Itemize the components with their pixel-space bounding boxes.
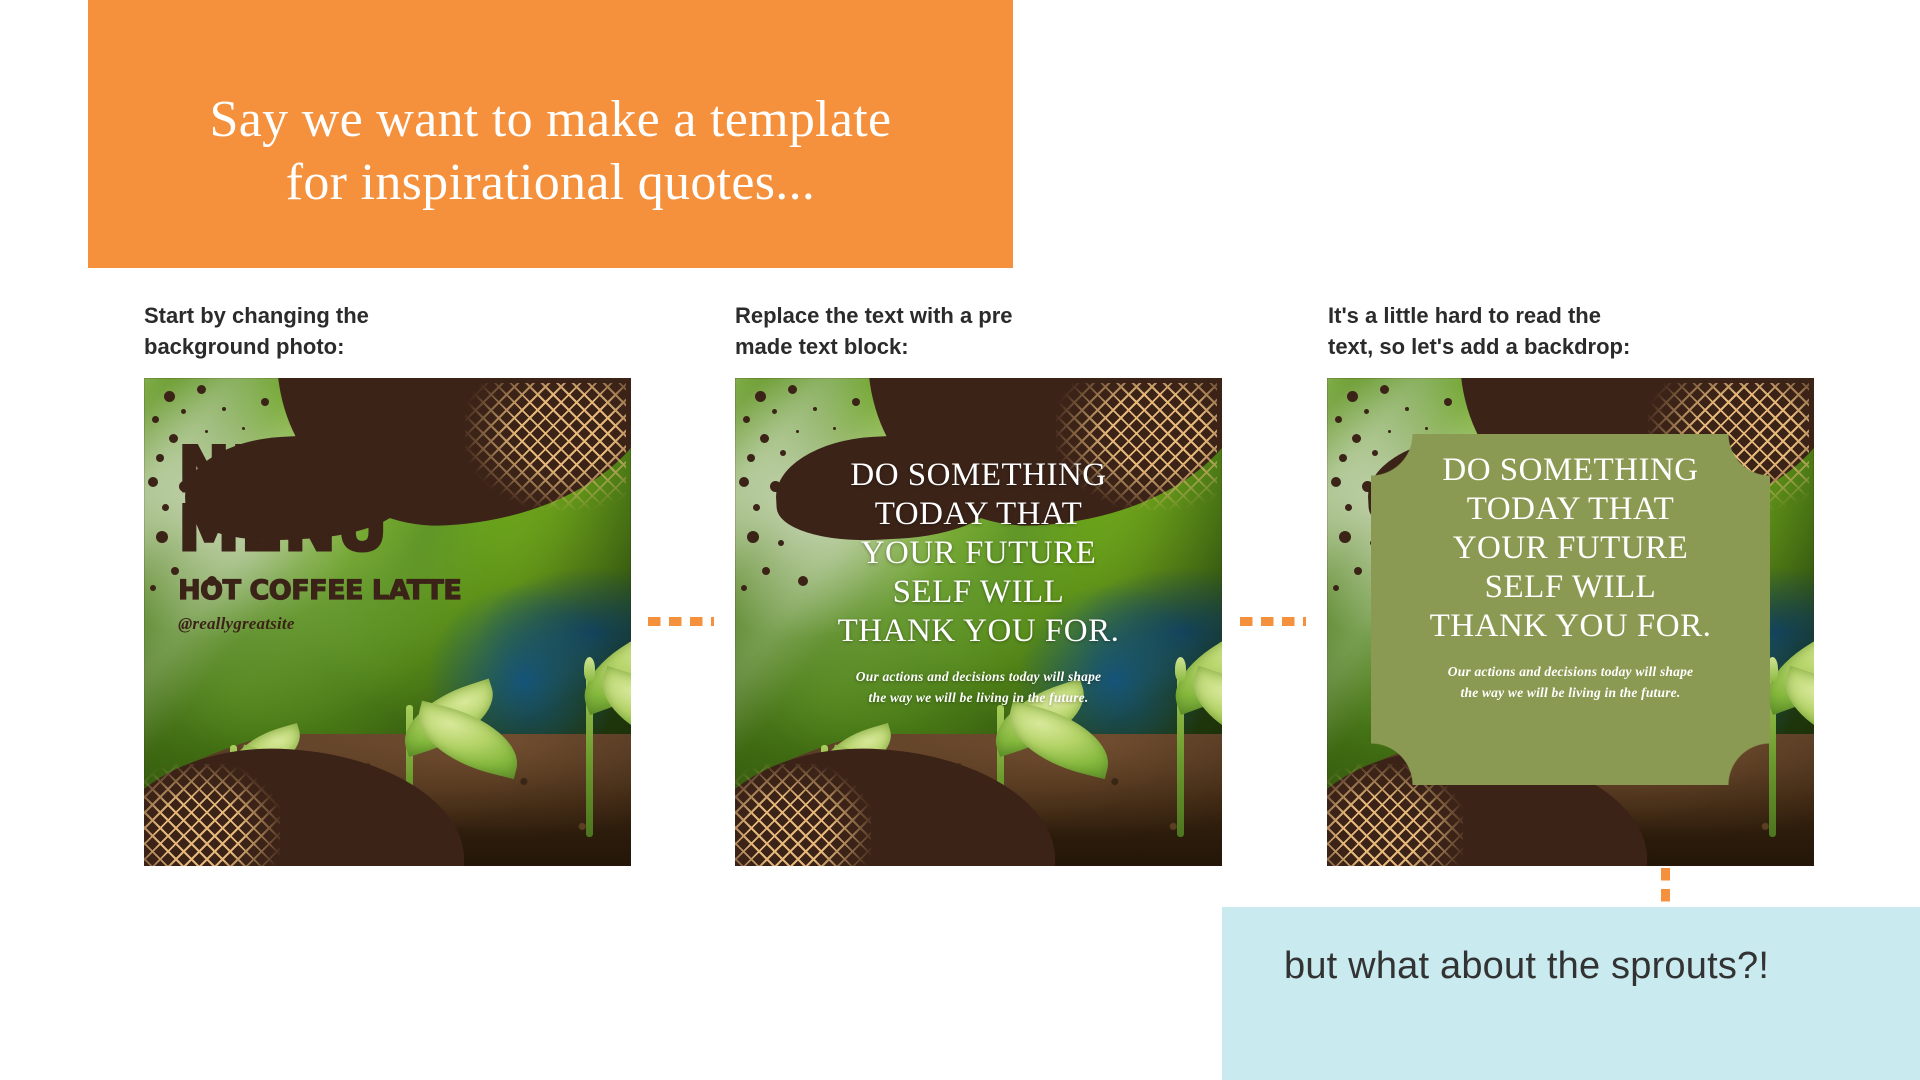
poster-panel-original[interactable]: NEW MENU HOT COFFEE LATTE @reallygreatsi… <box>144 378 631 866</box>
callout-text: but what about the sprouts?! <box>1284 945 1769 988</box>
poster-handle: @reallygreatsite <box>178 614 597 634</box>
dashed-connector-2 <box>1240 617 1306 626</box>
quote-text-block: DO SOMETHING TODAY THAT YOUR FUTURE SELF… <box>735 456 1222 709</box>
quote-main-text: DO SOMETHING TODAY THAT YOUR FUTURE SELF… <box>764 456 1193 651</box>
page-title: Say we want to make a template for inspi… <box>88 88 1013 215</box>
title-banner: Say we want to make a template for inspi… <box>88 0 1013 268</box>
dashed-connector-1 <box>648 617 714 626</box>
callout-box: but what about the sprouts?! <box>1222 907 1920 1080</box>
sprout-bud <box>584 657 595 681</box>
quote-text-block: DO SOMETHING TODAY THAT YOUR FUTURE SELF… <box>1327 451 1814 704</box>
poster-text-block: NEW MENU HOT COFFEE LATTE @reallygreatsi… <box>178 441 597 634</box>
step-caption-2: Replace the text with a pre made text bl… <box>735 300 1035 362</box>
poster-subtitle: HOT COFFEE LATTE <box>178 575 597 606</box>
quote-sub-text: Our actions and decisions today will sha… <box>764 667 1193 709</box>
page-title-line-2: for inspirational quotes... <box>112 151 989 214</box>
step-caption-1: Start by changing the background photo: <box>144 300 444 362</box>
poster-panel-quote-backdrop[interactable]: DO SOMETHING TODAY THAT YOUR FUTURE SELF… <box>1327 378 1814 866</box>
step-caption-3: It's a little hard to read the text, so … <box>1328 300 1648 362</box>
poster-title: NEW MENU <box>178 441 597 559</box>
page-title-line-1: Say we want to make a template <box>210 91 892 148</box>
quote-main-text: DO SOMETHING TODAY THAT YOUR FUTURE SELF… <box>1356 451 1785 646</box>
sprout-icon <box>495 661 631 837</box>
poster-panel-quote[interactable]: DO SOMETHING TODAY THAT YOUR FUTURE SELF… <box>735 378 1222 866</box>
quote-sub-text: Our actions and decisions today will sha… <box>1356 662 1785 704</box>
